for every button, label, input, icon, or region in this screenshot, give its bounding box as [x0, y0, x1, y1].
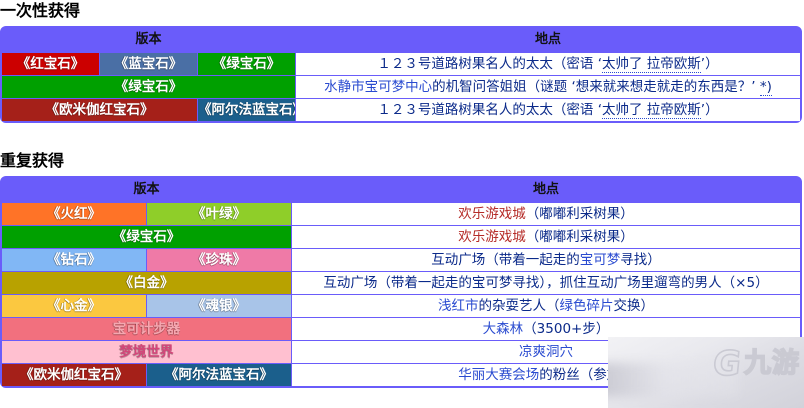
version-cell[interactable]: 《阿尔法蓝宝石》: [147, 364, 291, 386]
location-link[interactable]: 水静市: [324, 79, 365, 95]
version-cell[interactable]: 《心金》: [2, 295, 146, 317]
location-text: （带着一起走的: [485, 252, 580, 268]
location-link[interactable]: 欢乐游戏城: [458, 206, 526, 222]
version-label: 《蓝宝石》: [115, 56, 183, 72]
version-label: 《火红》: [47, 206, 101, 222]
location-link[interactable]: 宝可梦中心: [365, 79, 433, 95]
location-link[interactable]: 大森林: [483, 321, 524, 337]
version-cell[interactable]: 《蓝宝石》: [100, 53, 197, 75]
location-cell: 欢乐游戏城（嘟嘟利采树果）: [292, 203, 800, 225]
location-text: 互动广场（带着一起走的宝可梦寻找），抓住互动广场里遛弯的男人（×5）: [323, 275, 768, 291]
version-cell[interactable]: 《珍珠》: [147, 249, 291, 271]
version-cell[interactable]: 《魂银》: [147, 295, 291, 317]
location-text: 互动广场: [431, 252, 485, 268]
version-label: 《绿宝石》: [113, 229, 181, 245]
location-text: 寻找）: [620, 252, 661, 268]
table-one-body: 《红宝石》《蓝宝石》《绿宝石》１２３号道路树果名人的太太（密语 ‘太帅了 拉帝欧…: [2, 53, 800, 121]
location-text: （嘟嘟利采树果）: [526, 229, 634, 245]
jiuyou-mark-icon: G: [711, 345, 743, 383]
version-label: 《红宝石》: [17, 56, 85, 72]
location-cell: 互动广场（带着一起走的宝可梦寻找）: [292, 249, 800, 271]
version-label: 《叶绿》: [192, 206, 246, 222]
location-text: ’）: [701, 102, 719, 118]
location-text: （嘟嘟利采树果）: [526, 206, 634, 222]
table-one-time-acquisition: 版本 地点 《红宝石》《蓝宝石》《绿宝石》１２３号道路树果名人的太太（密语 ‘太…: [0, 26, 802, 123]
location-text: １２３号道路: [377, 102, 458, 118]
version-cell[interactable]: 《欧米伽红宝石》: [2, 99, 197, 121]
location-cell: １２３号道路树果名人的太太（密语 ‘太帅了 拉帝欧斯’）: [296, 99, 800, 121]
location-text: （3500+步）: [523, 321, 609, 337]
version-cell[interactable]: 《绿宝石》: [198, 53, 295, 75]
version-cell[interactable]: 宝可计步器: [2, 318, 291, 340]
version-label: 《珍珠》: [192, 252, 246, 268]
location-cell: １２３号道路树果名人的太太（密语 ‘太帅了 拉帝欧斯’）: [296, 53, 800, 75]
version-label: 《阿尔法蓝宝石》: [165, 367, 273, 383]
column-header-version: 版本: [2, 28, 295, 52]
watermark-text: 九游: [744, 347, 800, 381]
column-header-version: 版本: [2, 178, 291, 202]
location-text: 交换）: [614, 298, 655, 314]
watermark-logo: G 九游: [713, 345, 800, 383]
version-label: 《绿宝石》: [115, 79, 183, 95]
version-cell[interactable]: 《欧米伽红宝石》: [2, 364, 146, 386]
version-label: 《魂银》: [192, 298, 246, 314]
section-heading-repeatable: 重复获得: [0, 150, 64, 173]
table-row: 《白金》互动广场（带着一起走的宝可梦寻找），抓住互动广场里遛弯的男人（×5）: [2, 272, 800, 294]
location-link[interactable]: 凉爽洞穴: [519, 344, 573, 360]
version-cell[interactable]: 《绿宝石》: [2, 76, 295, 98]
location-text: 树果名人的太太（密语 ‘: [458, 56, 602, 72]
location-text: 的杂耍艺人（: [479, 298, 560, 314]
page-root: 一次性获得 版本 地点 《红宝石》《蓝宝石》《绿宝石》１２３号道路树果名人的太太…: [0, 0, 804, 408]
location-link[interactable]: 欢乐游戏城: [458, 229, 526, 245]
table-row: 《绿宝石》水静市宝可梦中心的机智问答姐姐（谜题 ‘想来就来想走就走的东西是？’ …: [2, 76, 800, 98]
version-label: 《阿尔法蓝宝石》: [198, 102, 295, 118]
table-row: 《欧米伽红宝石》《阿尔法蓝宝石》１２３号道路树果名人的太太（密语 ‘太帅了 拉帝…: [2, 99, 800, 121]
column-header-location: 地点: [296, 28, 800, 52]
version-cell[interactable]: 《绿宝石》: [2, 226, 291, 248]
location-link[interactable]: 浅红市: [438, 298, 479, 314]
section-heading-one-time: 一次性获得: [0, 0, 80, 23]
version-cell[interactable]: 《白金》: [2, 272, 291, 294]
version-cell[interactable]: 《红宝石》: [2, 53, 99, 75]
version-label: 梦境世界: [120, 344, 174, 360]
table-row: 《心金》《魂银》浅红市的杂耍艺人（绿色碎片交换）: [2, 295, 800, 317]
version-label: 《钻石》: [47, 252, 101, 268]
version-label: 《白金》: [120, 275, 174, 291]
location-text: 树果名人的太太（密语 ‘: [458, 102, 602, 118]
version-label: 《绿宝石》: [213, 56, 281, 72]
location-cell: 欢乐游戏城（嘟嘟利采树果）: [292, 226, 800, 248]
location-text: ’）: [701, 56, 719, 72]
version-cell[interactable]: 《钻石》: [2, 249, 146, 271]
location-text: *): [760, 79, 772, 96]
version-label: 《心金》: [47, 298, 101, 314]
watermark-overlay: G 九游: [608, 337, 804, 408]
location-text: 太帅了 拉帝欧斯: [602, 102, 701, 119]
version-cell[interactable]: 《火红》: [2, 203, 146, 225]
column-header-location: 地点: [292, 178, 800, 202]
location-cell: 水静市宝可梦中心的机智问答姐姐（谜题 ‘想来就来想走就走的东西是？’ *): [296, 76, 800, 98]
location-link[interactable]: 绿色碎片: [560, 298, 614, 314]
table-row: 《火红》《叶绿》欢乐游戏城（嘟嘟利采树果）: [2, 203, 800, 225]
location-link[interactable]: 华丽大赛会场: [458, 367, 539, 383]
location-text: １２３号道路: [377, 56, 458, 72]
version-cell[interactable]: 《阿尔法蓝宝石》: [198, 99, 295, 121]
location-text: 太帅了 拉帝欧斯: [602, 56, 701, 73]
version-cell[interactable]: 《叶绿》: [147, 203, 291, 225]
location-cell: 互动广场（带着一起走的宝可梦寻找），抓住互动广场里遛弯的男人（×5）: [292, 272, 800, 294]
version-label: 《欧米伽红宝石》: [46, 102, 154, 118]
table-header-row: 版本 地点: [2, 178, 800, 202]
version-label: 宝可计步器: [113, 321, 181, 337]
location-link[interactable]: 宝可梦: [580, 252, 621, 268]
table-row: 《红宝石》《蓝宝石》《绿宝石》１２３号道路树果名人的太太（密语 ‘太帅了 拉帝欧…: [2, 53, 800, 75]
table-row: 《钻石》《珍珠》互动广场（带着一起走的宝可梦寻找）: [2, 249, 800, 271]
version-label: 《欧米伽红宝石》: [20, 367, 128, 383]
location-cell: 浅红市的杂耍艺人（绿色碎片交换）: [292, 295, 800, 317]
table-row: 《绿宝石》欢乐游戏城（嘟嘟利采树果）: [2, 226, 800, 248]
table-header-row: 版本 地点: [2, 28, 800, 52]
version-cell[interactable]: 梦境世界: [2, 341, 291, 363]
location-text: 的机智问答姐姐（谜题 ‘想来就来想走就走的东西是？’: [432, 79, 760, 95]
